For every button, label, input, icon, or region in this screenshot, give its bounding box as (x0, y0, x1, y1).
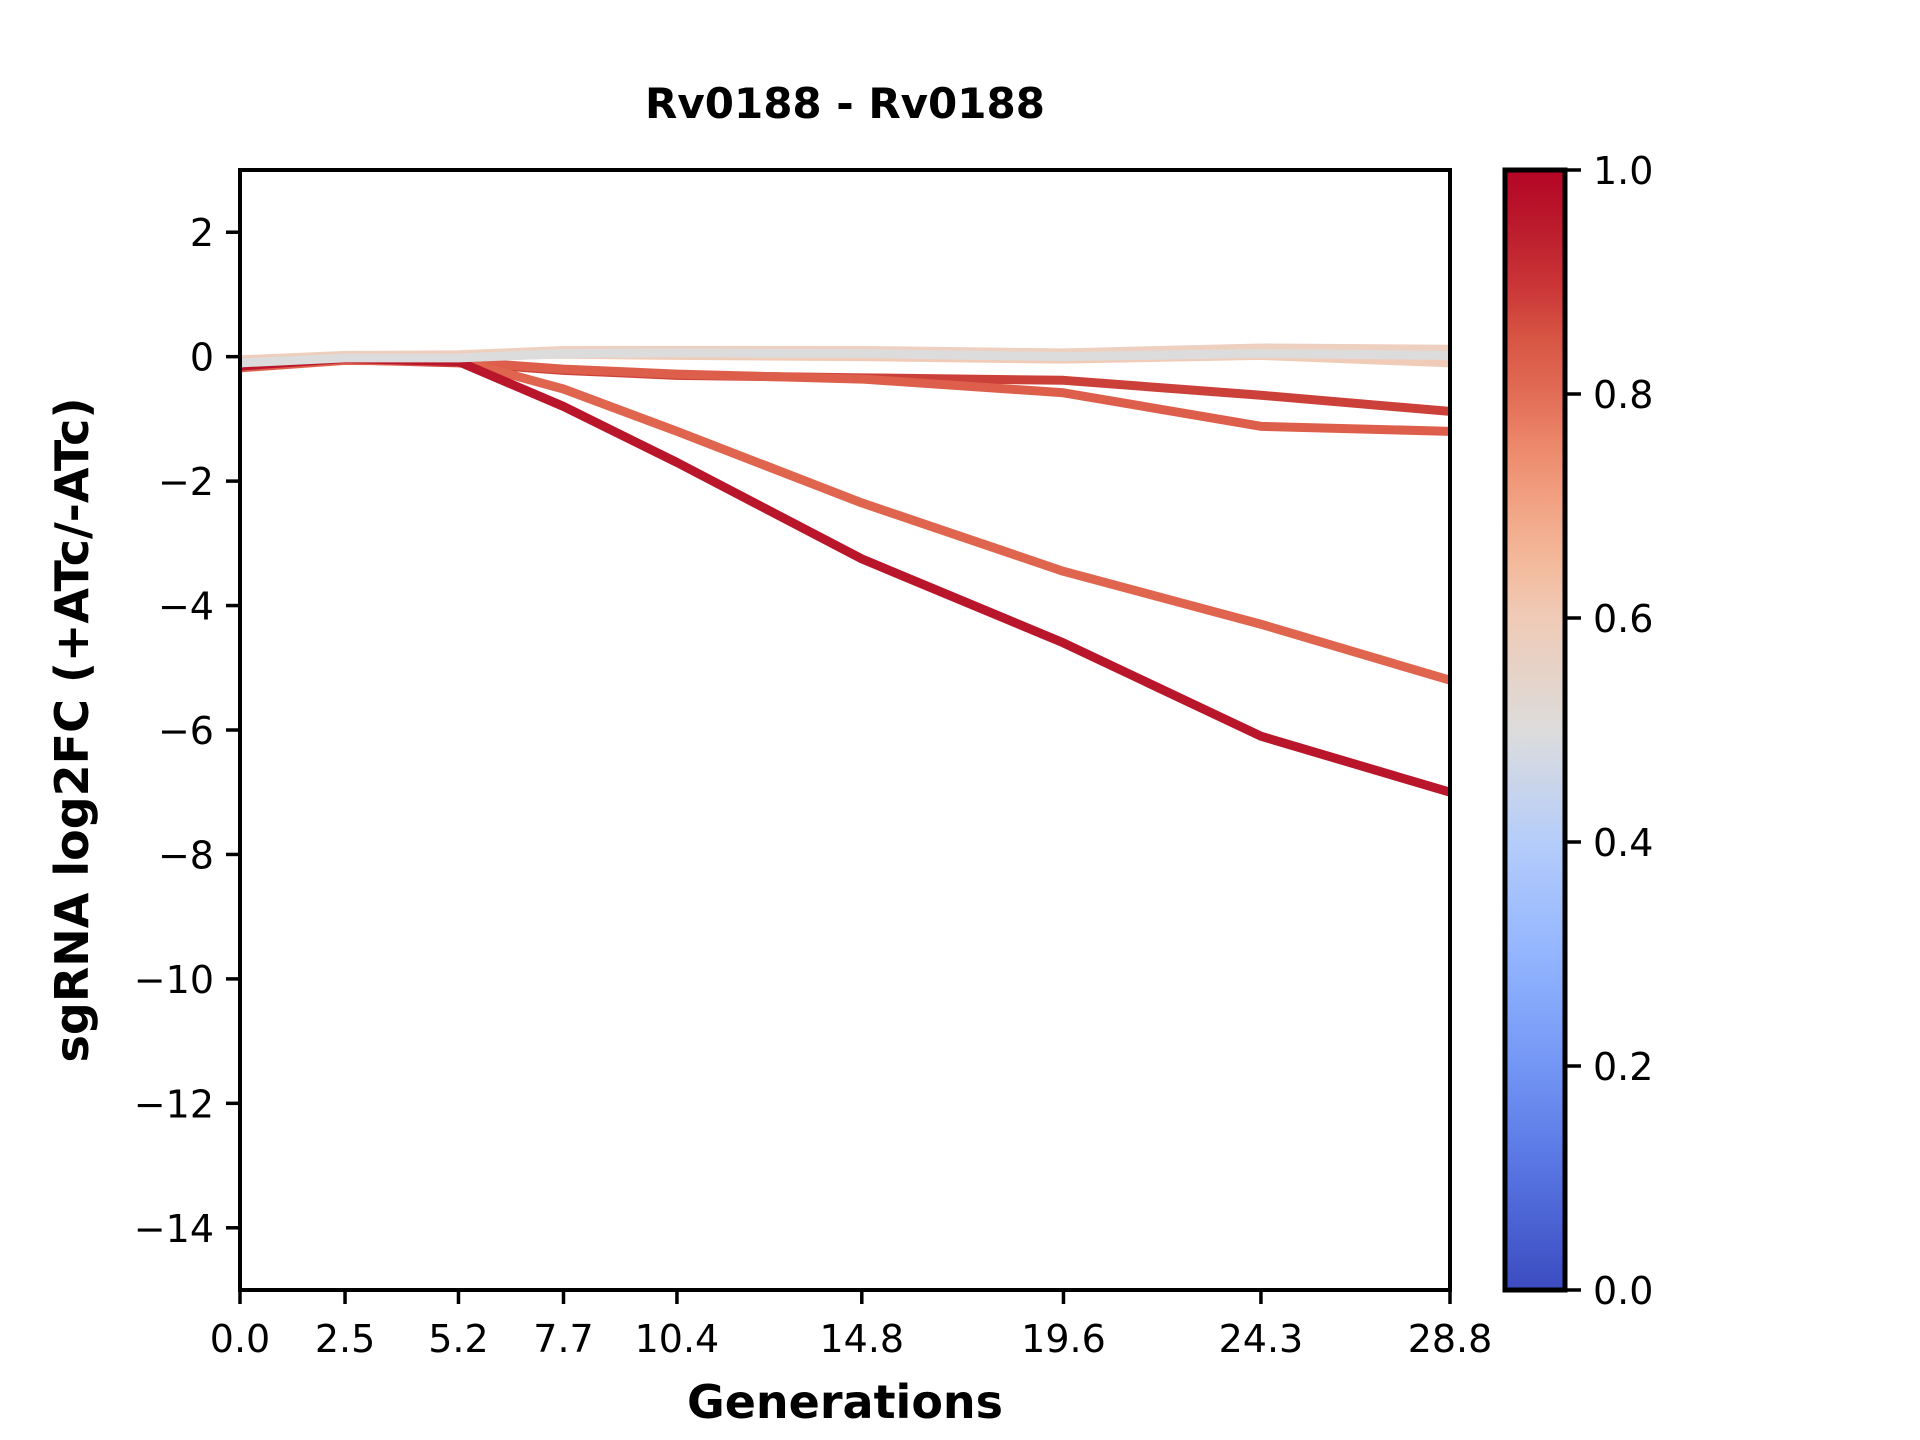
colorbar-tick-label: 1.0 (1593, 149, 1653, 193)
y-tick-label: 0 (190, 336, 214, 380)
y-tick-label: −14 (134, 1207, 214, 1251)
x-tick-label: 14.8 (820, 1317, 905, 1361)
y-axis-ticks: 20−2−4−6−8−10−12−14 (134, 211, 240, 1251)
colorbar-tick-label: 0.8 (1593, 373, 1653, 417)
x-axis-ticks: 0.02.55.27.710.414.819.624.328.8 (210, 1290, 1493, 1361)
x-axis-title: Generations (687, 1375, 1003, 1429)
colorbar-tick-label: 0.4 (1593, 821, 1653, 865)
x-tick-label: 19.6 (1021, 1317, 1106, 1361)
x-tick-label: 24.3 (1219, 1317, 1304, 1361)
colorbar-tick-label: 0.2 (1593, 1045, 1653, 1089)
colorbar-ticks: 1.00.80.60.40.20.0 (1565, 149, 1653, 1313)
plot-background (240, 170, 1450, 1290)
y-tick-label: −8 (158, 833, 214, 877)
colorbar-tick-label: 0.0 (1593, 1269, 1653, 1313)
colorbar: 1.00.80.60.40.20.0 (1505, 149, 1653, 1313)
y-tick-label: −12 (134, 1082, 214, 1126)
x-tick-label: 5.2 (428, 1317, 488, 1361)
x-tick-label: 0.0 (210, 1317, 270, 1361)
x-tick-label: 10.4 (635, 1317, 720, 1361)
y-tick-label: −4 (158, 585, 214, 629)
colorbar-gradient (1505, 170, 1565, 1290)
colorbar-tick-label: 0.6 (1593, 597, 1653, 641)
figure-canvas: Rv0188 - Rv0188 0.02.55.27.710.414.819.6… (0, 0, 1920, 1440)
y-axis-title: sgRNA log2FC (+ATc/-ATc) (45, 398, 99, 1063)
x-tick-label: 7.7 (533, 1317, 593, 1361)
x-tick-label: 2.5 (315, 1317, 375, 1361)
x-tick-label: 28.8 (1408, 1317, 1493, 1361)
y-tick-label: −6 (158, 709, 214, 753)
chart-title: Rv0188 - Rv0188 (645, 79, 1045, 128)
y-tick-label: −10 (134, 958, 214, 1002)
y-tick-label: −2 (158, 460, 214, 504)
line-chart: Rv0188 - Rv0188 0.02.55.27.710.414.819.6… (0, 0, 1920, 1440)
y-tick-label: 2 (190, 211, 214, 255)
